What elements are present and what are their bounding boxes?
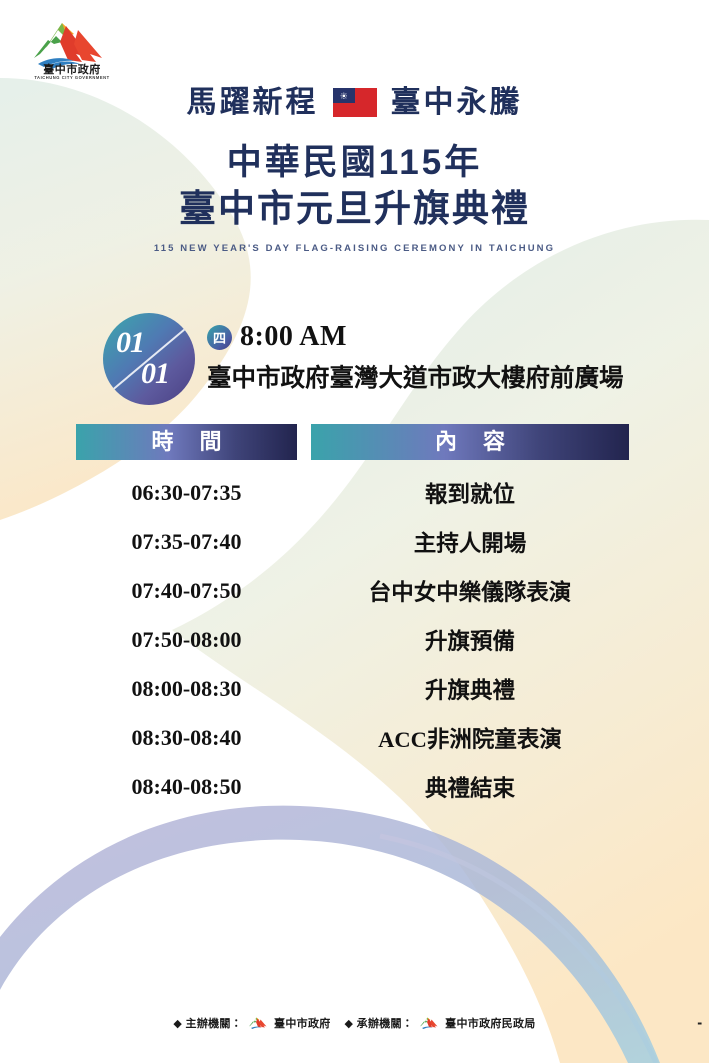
- event-info: 01 01 四 8:00 AM 臺中市政府臺灣大道市政大樓府前廣場: [103, 313, 663, 413]
- cell-item: 主持人開場: [311, 526, 629, 558]
- roc-flag-icon: [333, 88, 377, 117]
- cell-time: 07:40-07:50: [76, 578, 297, 604]
- host-name: 臺中市政府民政局: [445, 1015, 535, 1031]
- cell-time: 08:30-08:40: [76, 725, 297, 751]
- cell-item: 報到就位: [311, 477, 629, 509]
- title-block: 馬躍新程: [0, 84, 709, 254]
- cell-time: 08:00-08:30: [76, 676, 297, 702]
- slogan-right: 臺中永騰: [391, 84, 523, 122]
- table-row: 07:50-08:00 升旗預備: [76, 615, 629, 664]
- column-header-item: 內 容: [311, 424, 629, 460]
- svg-text:臺中市政府: 臺中市政府: [43, 62, 101, 76]
- organizer-group: ◆ 主辦機關： 臺中市政府: [173, 1015, 330, 1031]
- subtitle-english: 115 NEW YEAR'S DAY FLAG-RAISING CEREMONY…: [0, 243, 709, 254]
- schedule-header-row: 時 間 內 容: [76, 424, 629, 460]
- cell-time: 07:35-07:40: [76, 529, 297, 555]
- cell-item: 升旗典禮: [311, 673, 629, 705]
- table-row: 07:40-07:50 台中女中樂儀隊表演: [76, 566, 629, 615]
- cell-item: 台中女中樂儀隊表演: [311, 575, 629, 607]
- table-row: 08:40-08:50 典禮結束: [76, 762, 629, 811]
- table-row: 06:30-07:35 報到就位: [76, 468, 629, 517]
- schedule-body: 06:30-07:35 報到就位 07:35-07:40 主持人開場 07:40…: [76, 468, 629, 811]
- taichung-logo-mini-icon: [418, 1016, 440, 1031]
- cell-item: 升旗預備: [311, 624, 629, 656]
- main-title-line2: 臺中市元旦升旗典禮: [0, 185, 709, 233]
- date-day: 01: [141, 357, 169, 391]
- cell-time: 07:50-08:00: [76, 627, 297, 653]
- event-time: 8:00 AM: [240, 321, 347, 353]
- cell-item: 典禮結束: [311, 771, 629, 803]
- poster-root: 臺中市政府 TAICHUNG CITY GOVERNMENT 馬躍新程: [0, 0, 709, 1063]
- event-venue: 臺中市政府臺灣大道市政大樓府前廣場: [207, 359, 624, 394]
- slogan-line: 馬躍新程: [0, 84, 709, 122]
- svg-text:TAICHUNG CITY GOVERNMENT: TAICHUNG CITY GOVERNMENT: [34, 75, 109, 80]
- weekday-badge: 四: [207, 325, 232, 350]
- slogan-left: 馬躍新程: [187, 84, 319, 122]
- table-row: 07:35-07:40 主持人開場: [76, 517, 629, 566]
- date-month: 01: [116, 326, 144, 360]
- cell-item: ACC非洲院童表演: [311, 722, 629, 754]
- column-header-time: 時 間: [76, 424, 297, 460]
- organizer-name: 臺中市政府: [274, 1015, 331, 1031]
- table-row: 08:30-08:40 ACC非洲院童表演: [76, 713, 629, 762]
- table-row: 08:00-08:30 升旗典禮: [76, 664, 629, 713]
- footer: ◆ 主辦機關： 臺中市政府 ◆ 承辦機關：: [0, 1015, 709, 1031]
- host-label: ◆ 承辦機關：: [345, 1015, 414, 1031]
- date-badge: 01 01: [103, 313, 195, 405]
- schedule-table: 時 間 內 容 06:30-07:35 報到就位 07:35-07:40 主持人…: [76, 424, 629, 811]
- cell-time: 08:40-08:50: [76, 774, 297, 800]
- time-row: 四 8:00 AM: [207, 321, 347, 353]
- main-title: 中華民國115年 臺中市元旦升旗典禮: [0, 140, 709, 234]
- organizer-label: ◆ 主辦機關：: [173, 1015, 242, 1031]
- cell-time: 06:30-07:35: [76, 480, 297, 506]
- corner-mark: ▪▪: [697, 1019, 701, 1028]
- host-group: ◆ 承辦機關： 臺中市政府民政局: [345, 1015, 536, 1031]
- taichung-logo-mini-icon: [247, 1016, 269, 1031]
- taichung-city-government-logo: 臺中市政府 TAICHUNG CITY GOVERNMENT: [18, 14, 126, 80]
- main-title-line1: 中華民國115年: [0, 140, 709, 186]
